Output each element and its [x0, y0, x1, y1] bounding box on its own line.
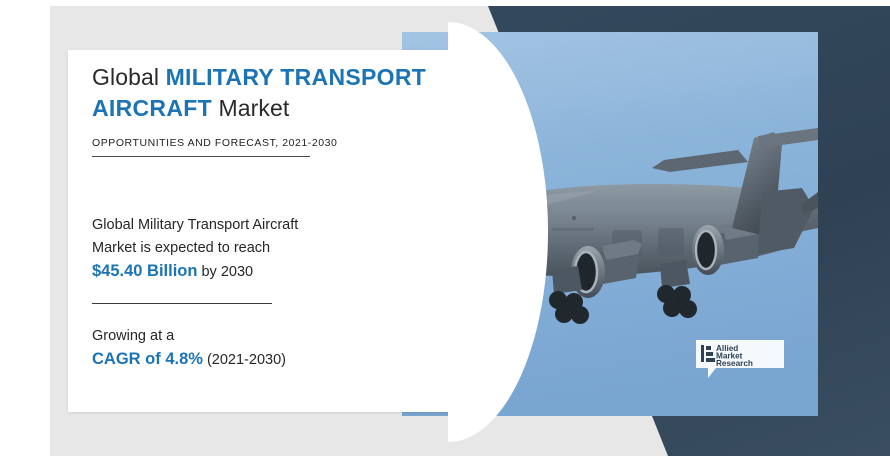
title-plain-leading: Global — [92, 64, 166, 90]
logo-line-3: Research — [716, 359, 753, 368]
report-banner: Global MILITARY TRANSPORT AIRCRAFT Marke… — [0, 0, 890, 466]
subtitle-rule — [92, 156, 310, 157]
page-title: Global MILITARY TRANSPORT AIRCRAFT Marke… — [92, 62, 442, 124]
market-value-block: Global Military Transport Aircraft Marke… — [92, 214, 442, 284]
title-plain-trailing: Market — [212, 95, 289, 121]
market-value-line-2: Market is expected to reach — [92, 237, 442, 260]
cagr-value: CAGR of 4.8% — [92, 350, 203, 368]
cagr-period: (2021-2030) — [203, 352, 286, 368]
market-value-year: by 2030 — [197, 264, 253, 280]
allied-market-research-logo[interactable]: Allied Market Research — [694, 338, 786, 380]
content-card: Global MILITARY TRANSPORT AIRCRAFT Marke… — [68, 50, 468, 412]
cagr-line-1: Growing at a — [92, 325, 442, 348]
market-value-line-3: $45.40 Billion by 2030 — [92, 260, 442, 284]
card-content: Global MILITARY TRANSPORT AIRCRAFT Marke… — [92, 62, 442, 372]
cagr-block: Growing at a CAGR of 4.8% (2021-2030) — [92, 325, 442, 372]
subtitle-group: OPPORTUNITIES AND FORECAST, 2021-2030 — [92, 133, 442, 157]
section-divider — [92, 303, 272, 304]
market-value-amount: $45.40 Billion — [92, 262, 197, 280]
market-value-line-1: Global Military Transport Aircraft — [92, 214, 442, 237]
report-subtitle: OPPORTUNITIES AND FORECAST, 2021-2030 — [92, 137, 337, 149]
cagr-line-2: CAGR of 4.8% (2021-2030) — [92, 348, 442, 372]
